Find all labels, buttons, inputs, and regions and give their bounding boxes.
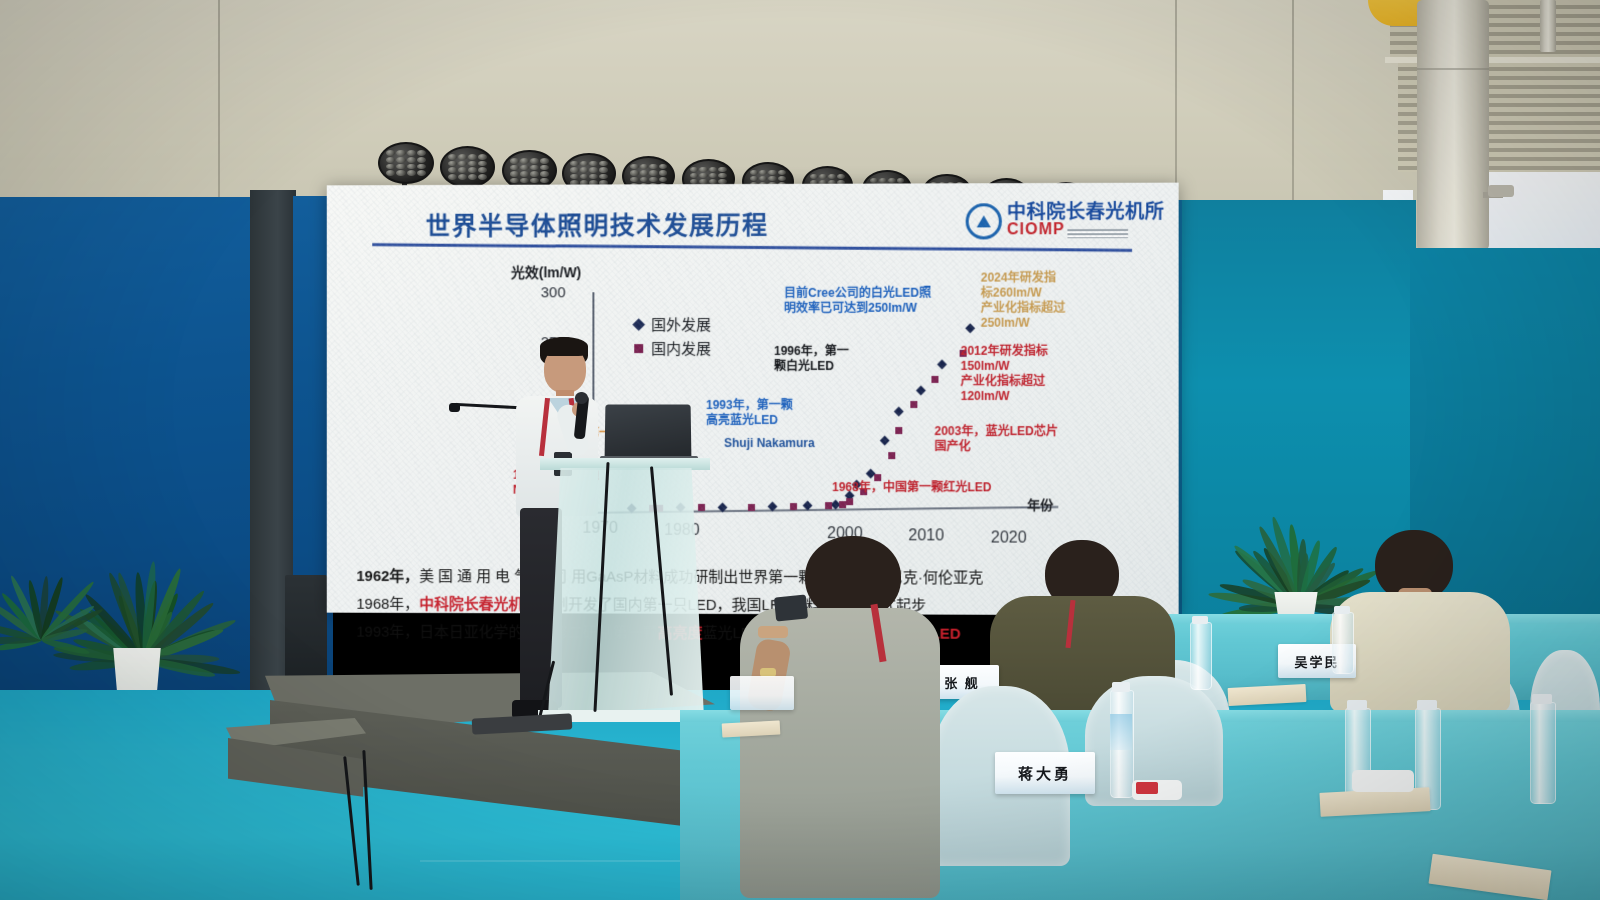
- structural-column: [1417, 0, 1489, 250]
- name-placard-occluded: [730, 676, 794, 710]
- bottle-cap: [1334, 606, 1350, 614]
- bottle-cap: [1347, 700, 1367, 710]
- chart-point-domestic: [839, 502, 846, 509]
- blue-led-1993-annotation: 1993年，第一颗 高亮蓝光LED: [706, 398, 793, 428]
- ceiling-pipe: [1540, 0, 1556, 52]
- y-axis-label: 光效(lm/W): [511, 262, 581, 282]
- name-placard: 蒋大勇: [995, 752, 1095, 794]
- logo-bars-decoration: [1068, 229, 1129, 238]
- lectern: [548, 468, 704, 718]
- microphone-head: [575, 392, 588, 404]
- security-camera: [1488, 185, 1514, 197]
- x-tick-2010: 2010: [908, 527, 944, 545]
- chart-point-domestic: [748, 504, 755, 511]
- person-hand: [758, 626, 788, 638]
- legend-label-foreign: 国外发展: [651, 314, 711, 335]
- bullet-year: 1993年，: [356, 623, 419, 640]
- small-red-object: [1136, 782, 1158, 794]
- person-torso: [1330, 592, 1510, 712]
- nakamura-annotation: Shuji Nakamura: [724, 436, 815, 451]
- x-tick-2020: 2020: [991, 529, 1027, 547]
- bottle-cap: [1532, 694, 1552, 704]
- wall-seam: [1175, 0, 1177, 210]
- stage-speaker-box: [285, 575, 327, 685]
- logo-chinese-text: 中科院长春光机所: [1007, 203, 1165, 223]
- wall-seam: [218, 0, 220, 200]
- title-divider: [372, 243, 1132, 252]
- legend-label-domestic: 国内发展: [651, 338, 711, 359]
- microphone-capsule: [449, 403, 460, 412]
- laptop-screen: [605, 405, 692, 458]
- legend-item-foreign: 国外发展: [634, 314, 711, 335]
- chart-point-domestic: [889, 452, 896, 459]
- bottle-cap: [1192, 616, 1208, 624]
- bullet-year: 1962年，: [356, 568, 419, 585]
- white-led-1996-annotation: 1996年，第一 颗白光LED: [774, 344, 849, 374]
- teal-backdrop-right: [1166, 200, 1416, 660]
- presentation-photo: 世界半导体照明技术发展历程 中科院长春光机所 CIOMP 光效(lm/W) 30…: [0, 0, 1600, 900]
- chart-point-domestic: [825, 502, 832, 509]
- x-axis-name: 年份: [1027, 494, 1053, 513]
- legend-square-icon: [634, 344, 643, 353]
- speaker-hair-top: [540, 337, 588, 356]
- column-band: [1417, 68, 1489, 70]
- smartphone: [774, 594, 808, 621]
- chart-point-domestic: [846, 498, 853, 505]
- ciomp-logo: 中科院长春光机所 CIOMP: [966, 203, 1165, 240]
- bottle-cap: [1417, 700, 1437, 710]
- chart-point-domestic: [910, 401, 917, 408]
- y-tick-300: 300: [541, 284, 566, 301]
- logo-english-text: CIOMP: [1007, 222, 1065, 239]
- bullet-1962: 1962年，美 国 通 用 电 气 公 司 用GaAsP材料成功研制出世界第一颗…: [356, 563, 1146, 593]
- chart-point-foreign: [965, 323, 975, 333]
- legend-diamond-icon: [632, 318, 645, 331]
- chart-point-domestic: [790, 503, 797, 510]
- slide-title: 世界半导体照明技术发展历程: [426, 206, 769, 243]
- chart-point-foreign: [894, 407, 904, 417]
- chart-point-foreign: [880, 436, 890, 446]
- bottle-cap: [1112, 682, 1130, 692]
- tissue: [1352, 770, 1414, 792]
- legend-item-domestic: 国内发展: [634, 338, 711, 359]
- ciomp-emblem-icon: [966, 203, 1002, 239]
- par-light-lens: [440, 146, 495, 188]
- chart-point-domestic: [931, 376, 938, 383]
- chart-point-foreign: [916, 385, 926, 395]
- par-light-lens: [378, 142, 434, 184]
- blue-backdrop-left: [0, 197, 262, 707]
- chart-point-domestic: [896, 427, 903, 434]
- projection-screen: 世界半导体照明技术发展历程 中科院长春光机所 CIOMP 光效(lm/W) 30…: [327, 183, 1179, 616]
- bottle-label: [1110, 714, 1132, 750]
- chart-point-foreign: [937, 360, 947, 370]
- water-bottle: [1530, 702, 1556, 804]
- bullet-year: 1968年，: [356, 596, 419, 613]
- placard-name: 张 舰: [944, 673, 980, 692]
- chart-point-domestic: [698, 504, 705, 511]
- placard-name: 蒋大勇: [1018, 763, 1072, 784]
- blue-chip-2003-annotation: 2003年，蓝光LED芯片国产化: [934, 424, 1065, 454]
- water-bottle: [1190, 622, 1212, 690]
- target-2012-annotation: 2012年研发指标150lm/W 产业化指标超过120lm/W: [961, 344, 1066, 404]
- cree-annotation: 目前Cree公司的白光LED照 明效率已可达到250lm/W: [784, 286, 931, 316]
- china-red-led-1968-annotation: 1968年，中国第一颗红光LED: [832, 480, 991, 495]
- wall-seam: [1292, 0, 1294, 215]
- water-bottle: [1332, 612, 1354, 674]
- target-2024-annotation: 2024年研发指标260lm/W 产业化指标超过250lm/W: [981, 270, 1066, 330]
